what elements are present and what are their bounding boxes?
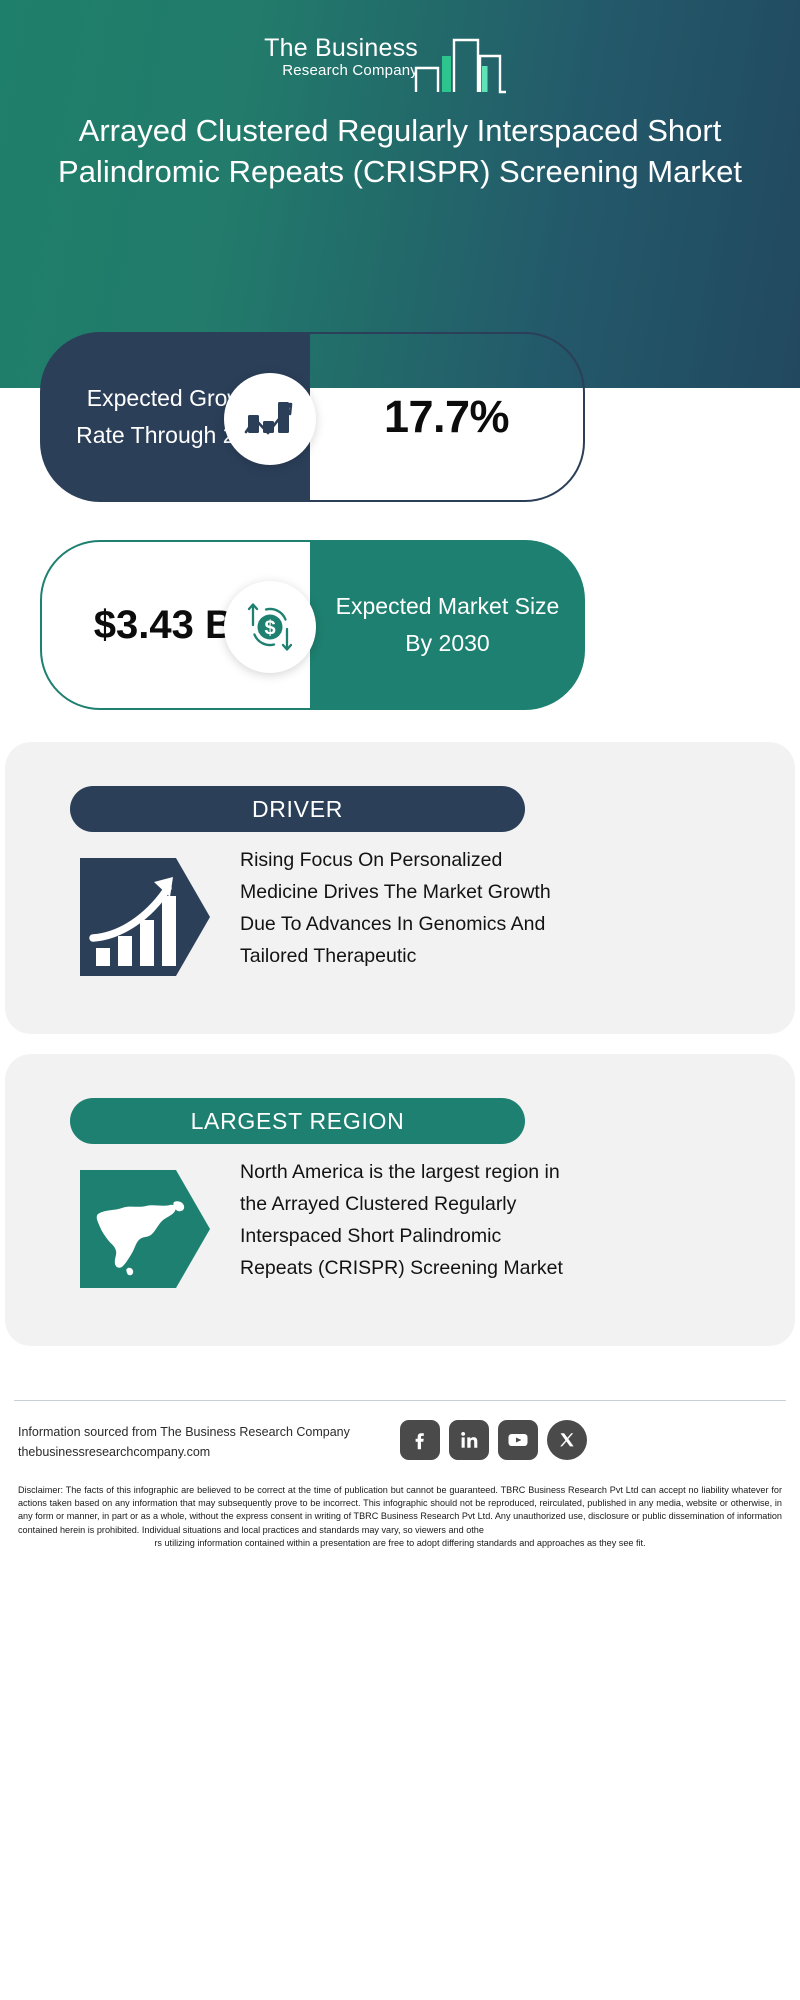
largest-region-pill-label: LARGEST REGION [191,1108,405,1135]
logo-line-1: The Business [218,34,418,62]
footer-divider [14,1400,786,1401]
market-size-label: Expected Market Size By 2030 [335,588,560,662]
dollar-exchange-icon: $ [224,581,316,673]
source-attribution: Information sourced from The Business Re… [18,1422,448,1462]
linkedin-icon[interactable] [449,1420,489,1460]
disclaimer-body: Disclaimer: The facts of this infographi… [18,1485,782,1535]
driver-block: DRIVER Rising Focus On Personalized Medi… [5,742,795,1034]
header-banner: The Business Research Company Arrayed Cl… [0,0,800,388]
x-twitter-icon[interactable] [547,1420,587,1460]
bar-chart-logo-mark-icon [414,22,508,99]
source-line-1: Information sourced from The Business Re… [18,1422,448,1442]
driver-pill: DRIVER [70,786,525,832]
growth-chart-arrow-icon [224,373,316,465]
page-title: Arrayed Clustered Regularly Interspaced … [50,110,750,192]
driver-pill-label: DRIVER [252,796,343,823]
growth-bars-arrow-icon [80,852,210,982]
largest-region-body-text: North America is the largest region in t… [240,1156,575,1284]
largest-region-block: LARGEST REGION North America is the larg… [5,1054,795,1346]
source-line-2[interactable]: thebusinessresearchcompany.com [18,1442,448,1462]
facebook-icon[interactable] [400,1420,440,1460]
infographic-page: The Business Research Company Arrayed Cl… [0,0,800,2000]
growth-rate-value-panel: 17.7% [310,332,585,502]
disclaimer-last-line: rs utilizing information contained withi… [18,1537,782,1550]
social-links [400,1420,590,1462]
growth-rate-value: 17.7% [384,391,509,443]
driver-body-text: Rising Focus On Personalized Medicine Dr… [240,844,575,972]
market-size-label-panel: Expected Market Size By 2030 [310,540,585,710]
logo-line-2: Research Company [218,62,418,80]
youtube-icon[interactable] [498,1420,538,1460]
north-america-map-icon [80,1164,210,1294]
disclaimer-text: Disclaimer: The facts of this infographi… [18,1484,782,1550]
logo-wordmark: The Business Research Company [218,34,418,80]
svg-text:$: $ [264,618,275,640]
company-logo: The Business Research Company [218,22,508,94]
largest-region-pill: LARGEST REGION [70,1098,525,1144]
